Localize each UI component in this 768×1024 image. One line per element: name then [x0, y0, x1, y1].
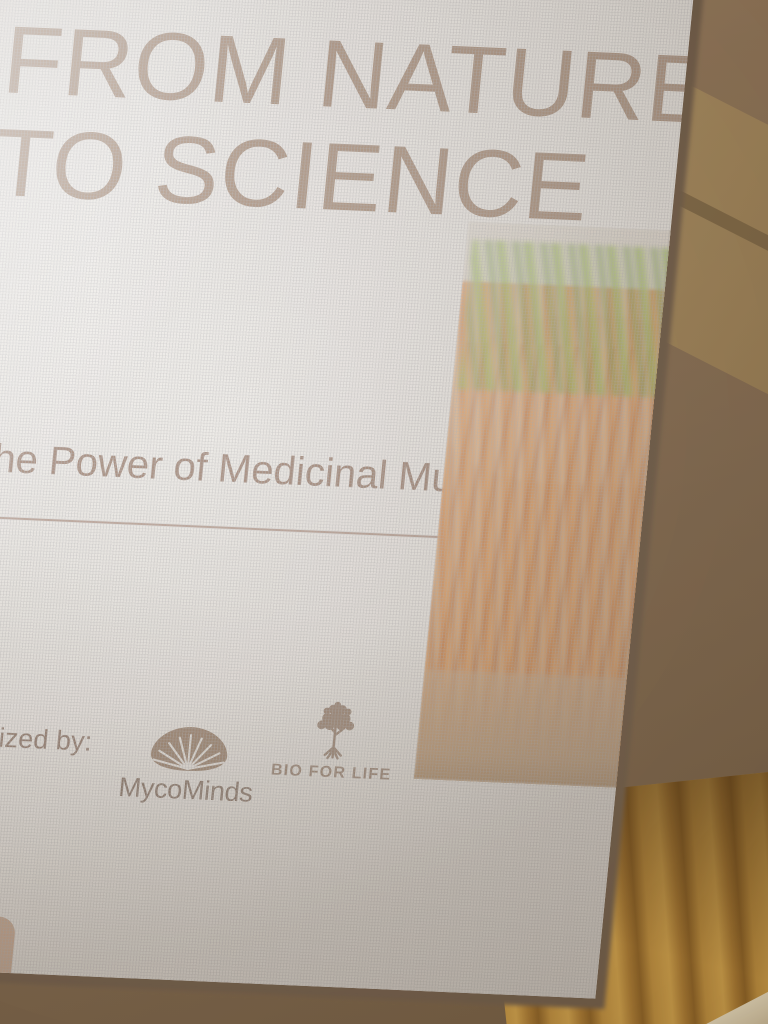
logo-bioforlife-label: BIO FOR LIFE: [265, 761, 397, 785]
slide-title-block: FROM NATURE TO SCIENCE: [0, 10, 569, 239]
room-photo-scene: FROM NATURE TO SCIENCE The Power of Medi…: [0, 0, 768, 1024]
slide-content: FROM NATURE TO SCIENCE The Power of Medi…: [0, 0, 694, 999]
logo-bioforlife: BIO FOR LIFE: [265, 699, 403, 785]
logo-mycominds: MycoMinds: [114, 722, 262, 809]
tree-icon: [304, 700, 366, 764]
decorative-arch-shapes: [0, 903, 87, 982]
logo-mycominds-label: MycoMinds: [114, 772, 257, 809]
organized-by-label: Organized by:: [0, 719, 93, 757]
slide-surface: FROM NATURE TO SCIENCE The Power of Medi…: [0, 0, 694, 999]
slide-subtitle: The Power of Medicinal Mushrooms: [0, 436, 491, 504]
divider-rule: [0, 514, 466, 539]
decorative-arch-3: [0, 916, 16, 977]
title-line-2: TO SCIENCE: [0, 112, 559, 239]
presentation-screen: FROM NATURE TO SCIENCE The Power of Medi…: [0, 0, 692, 998]
mushroom-cap-icon: [146, 723, 233, 774]
